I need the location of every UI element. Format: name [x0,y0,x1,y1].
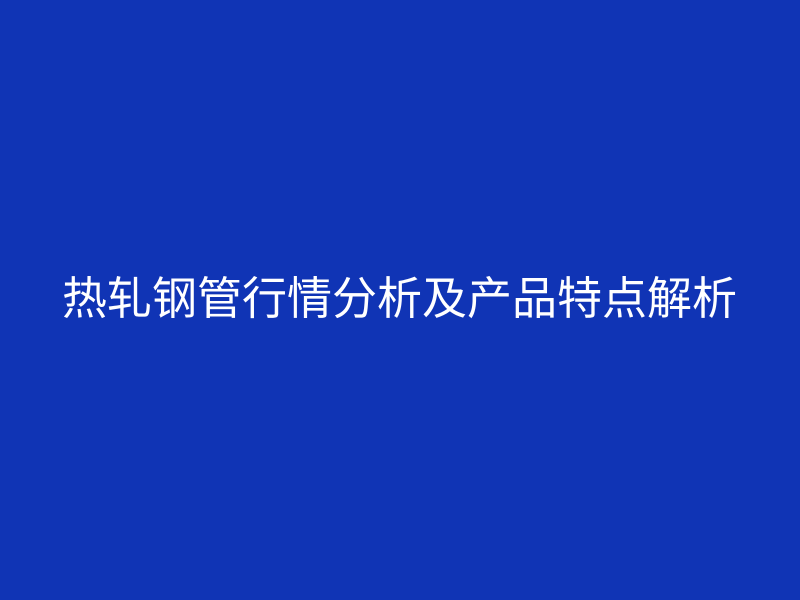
title-block: 热轧钢管行情分析及产品特点解析 [0,0,800,600]
title-slide: 热轧钢管行情分析及产品特点解析 [0,0,800,600]
page-title: 热轧钢管行情分析及产品特点解析 [62,276,737,321]
